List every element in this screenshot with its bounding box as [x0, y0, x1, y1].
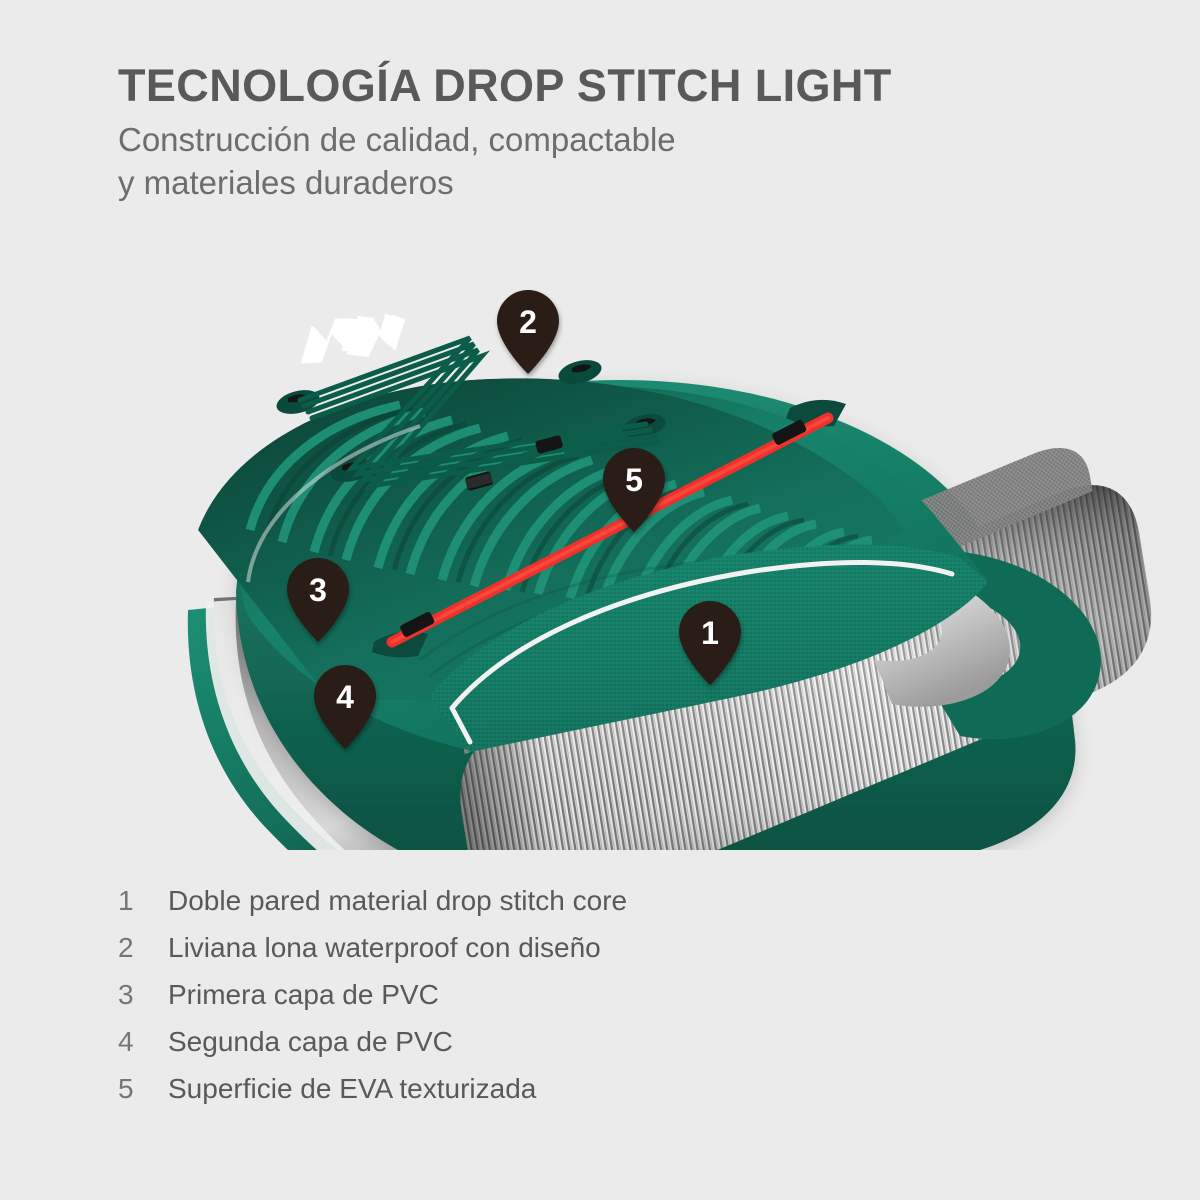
legend-item-3-label: Primera capa de PVC: [168, 979, 439, 1011]
header-block: TECNOLOGÍA DROP STITCH LIGHT Construcció…: [118, 62, 1118, 205]
legend-item-1-number: 1: [118, 885, 168, 917]
legend-item-5: 5 Superficie de EVA texturizada: [118, 1073, 1018, 1120]
legend-item-2-label: Liviana lona waterproof con diseño: [168, 932, 601, 964]
page-subtitle: Construcción de calidad, compactable y m…: [118, 119, 1118, 205]
legend-item-5-label: Superficie de EVA texturizada: [168, 1073, 536, 1105]
legend-item-2-number: 2: [118, 932, 168, 964]
marker-pin-3-number: 3: [309, 572, 327, 608]
legend-item-5-number: 5: [118, 1073, 168, 1105]
legend-item-1: 1 Doble pared material drop stitch core: [118, 885, 1018, 932]
marker-pin-2[interactable]: 2: [497, 290, 559, 374]
subtitle-line-1: Construcción de calidad, compactable: [118, 121, 676, 158]
subtitle-line-2: y materiales duraderos: [118, 164, 454, 201]
legend-list: 1 Doble pared material drop stitch core …: [118, 885, 1018, 1120]
page-title: TECNOLOGÍA DROP STITCH LIGHT: [118, 62, 1118, 109]
marker-pin-1-number: 1: [701, 615, 719, 651]
legend-item-1-label: Doble pared material drop stitch core: [168, 885, 627, 917]
marker-pin-2-number: 2: [519, 304, 537, 340]
paddle-board-illustration: 1 2 3 4: [0, 230, 1200, 850]
legend-item-3: 3 Primera capa de PVC: [118, 979, 1018, 1026]
legend-item-4-number: 4: [118, 1026, 168, 1058]
legend-item-3-number: 3: [118, 979, 168, 1011]
technology-infographic: TECNOLOGÍA DROP STITCH LIGHT Construcció…: [0, 0, 1200, 1200]
marker-pin-5-number: 5: [625, 462, 643, 498]
legend-item-2: 2 Liviana lona waterproof con diseño: [118, 932, 1018, 979]
aqua-marina-logo: [295, 308, 411, 368]
marker-pin-4-number: 4: [336, 679, 354, 715]
legend-item-4: 4 Segunda capa de PVC: [118, 1026, 1018, 1073]
legend-item-4-label: Segunda capa de PVC: [168, 1026, 453, 1058]
